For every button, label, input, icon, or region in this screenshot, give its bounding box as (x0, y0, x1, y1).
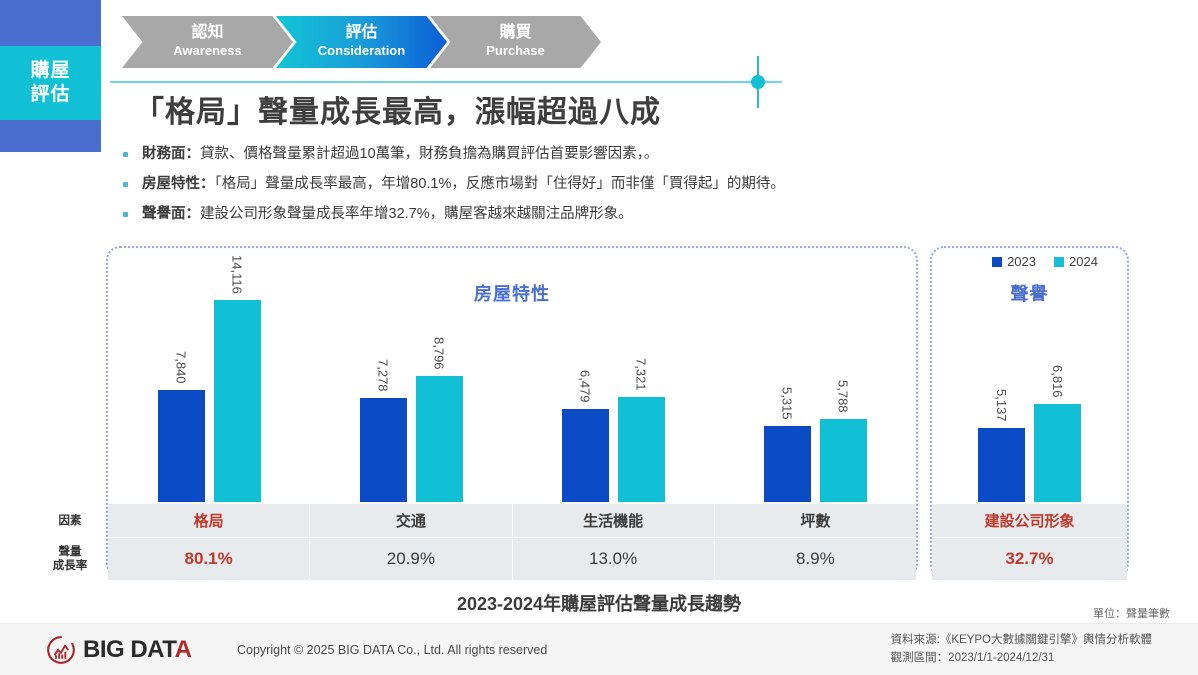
chart-container: 房屋特性 聲譽 2023 2024 7,84014,1167,2788,7966… (35, 246, 1165, 584)
legend-label-2024: 2024 (1069, 254, 1098, 269)
row-header-factor: 因素 (35, 504, 105, 538)
table-cell-growth-rate: 8.9% (715, 538, 916, 580)
bar-rect (562, 409, 609, 502)
funnel-stage-purchase-en: Purchase (486, 43, 545, 60)
data-source-line-2: 觀測區間：2023/1/1-2024/12/31 (891, 650, 1152, 668)
sidebar-tag-line-2: 評估 (30, 83, 70, 107)
bar-2023-格局[interactable]: 7,840 (158, 390, 205, 502)
bar-rect (360, 398, 407, 502)
brand-logo: BIG DATA (46, 635, 191, 665)
row-header-growth-rate: 聲量 成長率 (35, 538, 105, 580)
bar-rect (1034, 404, 1081, 502)
funnel-stage-awareness[interactable]: 認知 Awareness (122, 16, 293, 68)
bar-group: 5,1376,816 (975, 246, 1085, 502)
bullet-rest: 貸款、價格聲量累計超過10萬筆，財務負擔為購買評估首要影響因素，。 (200, 146, 658, 162)
table-cell-growth-rate: 80.1% (108, 538, 310, 580)
bar-group: 5,3155,788 (760, 246, 870, 502)
title-divider (110, 81, 782, 83)
bullet-lead: 聲譽面： (142, 206, 200, 222)
bar-2024-格局[interactable]: 14,116 (214, 300, 261, 502)
table-cell-factor: 格局 (108, 504, 310, 538)
bullet-dot-icon (123, 152, 128, 157)
bar-value-label: 6,479 (578, 370, 593, 403)
table-cell-factor: 建設公司形象 (932, 504, 1127, 538)
funnel-stage-purchase-cn: 購買 (499, 24, 531, 42)
legend-swatch-2024 (1054, 257, 1064, 267)
table-row: 格局交通生活機能坪數 (108, 504, 916, 538)
data-source-line-1: 資料來源:《KEYPO大數據關鍵引擎》輿情分析軟體 (891, 632, 1152, 650)
bar-group: 6,4797,321 (558, 246, 668, 502)
funnel-stage-consideration-en: Consideration (318, 43, 405, 60)
bullet-text: 房屋特性：「格局」聲量成長率最高，年增80.1%，反應市場對「住得好」而非僅「買… (142, 174, 785, 195)
list-item: 聲譽面：建設公司形象聲量成長率年增32.7%，購屋客越來越關注品牌形象。 (123, 204, 1133, 225)
bullet-lead: 財務面： (142, 146, 200, 162)
table-cell-growth-rate: 32.7% (932, 538, 1127, 580)
bar-rect (618, 397, 665, 502)
bar-2023-建設公司形象[interactable]: 5,137 (978, 428, 1025, 502)
row-header-growth-line-1: 聲量 (59, 546, 82, 558)
bullet-lead: 房屋特性： (142, 176, 215, 192)
bar-2023-坪數[interactable]: 5,315 (764, 426, 811, 502)
funnel-stage-consideration-cn: 評估 (345, 24, 377, 42)
brand-word-main: BIG DAT (83, 636, 175, 663)
table-row: 建設公司形象 (932, 504, 1127, 538)
bar-value-label: 7,278 (376, 359, 391, 392)
bar-2024-生活機能[interactable]: 7,321 (618, 397, 665, 502)
bullet-text: 財務面：貸款、價格聲量累計超過10萬筆，財務負擔為購買評估首要影響因素，。 (142, 144, 658, 165)
funnel-stage-awareness-en: Awareness (173, 43, 241, 60)
bullet-rest: 「格局」聲量成長率最高，年增80.1%，反應市場對「住得好」而非僅「買得起」的期… (215, 176, 785, 192)
page-footer: BIG DATA Copyright © 2025 BIG DATA Co., … (0, 623, 1198, 675)
table-cell-factor: 坪數 (715, 504, 916, 538)
legend-item-2024[interactable]: 2024 (1054, 254, 1098, 269)
chart-plot-area: 7,84014,1167,2788,7966,4797,3215,3155,78… (35, 246, 1165, 502)
bullet-rest: 建設公司形象聲量成長率年增32.7%，購屋客越來越關注品牌形象。 (200, 206, 633, 222)
journey-funnel: 認知 Awareness 評估 Consideration 購買 Purchas… (122, 16, 584, 68)
funnel-stage-awareness-cn: 認知 (191, 24, 223, 42)
table-cell-growth-rate: 20.9% (310, 538, 512, 580)
table-cell-factor: 交通 (310, 504, 512, 538)
table-house-features: 格局交通生活機能坪數 80.1%20.9%13.0%8.9% (108, 504, 916, 580)
bar-2023-生活機能[interactable]: 6,479 (562, 409, 609, 502)
insight-bullet-list: 財務面：貸款、價格聲量累計超過10萬筆，財務負擔為購買評估首要影響因素，。 房屋… (123, 144, 1133, 234)
brand-word-accent: A (175, 636, 192, 663)
page-title: 「格局」聲量成長最高，漲幅超過八成 (134, 87, 661, 131)
funnel-stage-consideration[interactable]: 評估 Consideration (276, 16, 447, 68)
table-cell-growth-rate: 13.0% (513, 538, 715, 580)
list-item: 房屋特性：「格局」聲量成長率最高，年增80.1%，反應市場對「住得好」而非僅「買… (123, 174, 1133, 195)
table-row-headers: 因素 聲量 成長率 (35, 504, 105, 580)
bar-2024-建設公司形象[interactable]: 6,816 (1034, 404, 1081, 502)
bar-2024-交通[interactable]: 8,796 (416, 376, 463, 502)
bar-value-label: 6,816 (1050, 365, 1065, 398)
sidebar-tag-line-1: 購屋 (30, 59, 70, 83)
bar-value-label: 5,137 (994, 389, 1009, 422)
bullet-text: 聲譽面：建設公司形象聲量成長率年增32.7%，購屋客越來越關注品牌形象。 (142, 204, 633, 225)
chart-legend: 2023 2024 (965, 254, 1125, 269)
brand-logo-wordmark: BIG DATA (83, 636, 191, 664)
bar-rect (158, 390, 205, 502)
bar-rect (764, 426, 811, 502)
table-cell-factor: 生活機能 (513, 504, 715, 538)
big-data-mark-icon (46, 635, 76, 665)
table-row: 80.1%20.9%13.0%8.9% (108, 538, 916, 580)
list-item: 財務面：貸款、價格聲量累計超過10萬筆，財務負擔為購買評估首要影響因素，。 (123, 144, 1133, 165)
legend-swatch-2023 (992, 257, 1002, 267)
bar-group: 7,84014,116 (154, 246, 264, 502)
data-source-note: 資料來源:《KEYPO大數據關鍵引擎》輿情分析軟體 觀測區間：2023/1/1-… (891, 632, 1152, 668)
bar-value-label: 8,796 (432, 337, 447, 370)
funnel-stage-purchase[interactable]: 購買 Purchase (430, 16, 601, 68)
bar-value-label: 5,788 (836, 380, 851, 413)
bar-rect (978, 428, 1025, 502)
bar-rect (820, 419, 867, 502)
bar-value-label: 7,321 (634, 358, 649, 391)
chart-caption: 2023-2024年購屋評估聲量成長趨勢 (0, 590, 1198, 616)
bar-value-label: 7,840 (174, 351, 189, 384)
chart-unit-note: 單位：聲量筆數 (1093, 605, 1170, 621)
row-header-growth-line-2: 成長率 (53, 560, 88, 572)
bar-rect (416, 376, 463, 502)
copyright-text: Copyright © 2025 BIG DATA Co., Ltd. All … (237, 643, 547, 657)
bullet-dot-icon (123, 182, 128, 187)
legend-item-2023[interactable]: 2023 (992, 254, 1036, 269)
bullet-dot-icon (123, 212, 128, 217)
legend-label-2023: 2023 (1007, 254, 1036, 269)
table-reputation: 建設公司形象 32.7% (932, 504, 1127, 580)
bar-value-label: 5,315 (780, 387, 795, 420)
bar-group: 7,2788,796 (356, 246, 466, 502)
table-row: 32.7% (932, 538, 1127, 580)
bar-rect (214, 300, 261, 502)
bar-2024-坪數[interactable]: 5,788 (820, 419, 867, 502)
sidebar-section-tag: 購屋 評估 (0, 46, 101, 120)
bar-2023-交通[interactable]: 7,278 (360, 398, 407, 502)
bar-value-label: 14,116 (230, 255, 245, 294)
crosshair-dot-icon (751, 75, 765, 89)
